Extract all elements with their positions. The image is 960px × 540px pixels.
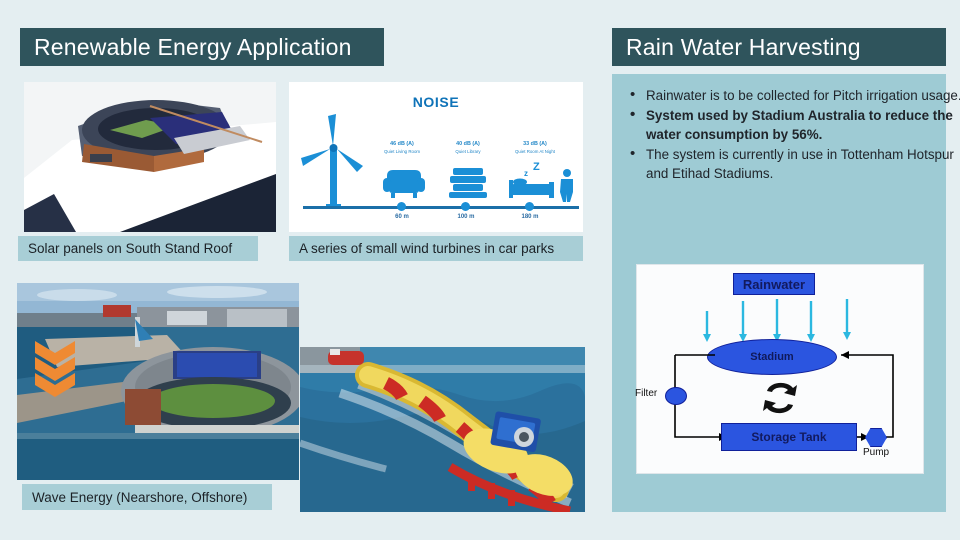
stadium-render-graphic <box>24 82 276 232</box>
caption-solar: Solar panels on South Stand Roof <box>18 236 258 261</box>
page-title-left: Renewable Energy Application <box>20 28 384 66</box>
slide-root: Renewable Energy Application Solar panel… <box>0 0 960 540</box>
noise-distance-2: 100 m <box>441 214 491 220</box>
noise-infographic: NOISE 46 dB (A) Quiet Living Room 40 dB … <box>289 82 583 232</box>
person-icon <box>557 168 577 204</box>
noise-title: NOISE <box>289 94 583 110</box>
noise-item-2: 40 dB (A) Quiet Library <box>437 140 499 155</box>
noise-distance-1: 60 m <box>377 214 427 220</box>
aerial-stadium-image <box>17 283 299 480</box>
noise-dot-1 <box>397 202 406 211</box>
noise-db-3: 33 dB (A) <box>497 140 573 148</box>
bed-icon: Z z <box>507 158 563 202</box>
noise-baseline <box>303 206 579 209</box>
svg-text:Z: Z <box>533 161 540 173</box>
noise-distance-3: 180 m <box>505 214 555 220</box>
bullet-item-1: Rainwater is to be collected for Pitch i… <box>646 86 960 105</box>
filter-label: Filter <box>635 388 657 399</box>
noise-dot-3 <box>525 202 534 211</box>
noise-db-2: 40 dB (A) <box>437 140 499 148</box>
bullet-item-3: The system is currently in use in Totten… <box>646 145 960 183</box>
wave-energy-image <box>300 347 585 512</box>
svg-text:z: z <box>524 169 528 178</box>
books-icon <box>447 164 489 200</box>
noise-item-1: 46 dB (A) Quiet Living Room <box>367 140 437 155</box>
noise-db-1: 46 dB (A) <box>367 140 437 148</box>
aerial-render-graphic <box>17 283 299 480</box>
rain-water-panel: Rainwater is to be collected for Pitch i… <box>612 74 946 512</box>
storage-tank-node: Storage Tank <box>721 423 857 451</box>
wind-turbine-icon <box>297 110 371 210</box>
pump-label: Pump <box>863 447 889 458</box>
filter-node <box>665 387 687 405</box>
noise-label-3: Quiet Room At Night <box>497 148 573 155</box>
page-title-right: Rain Water Harvesting <box>612 28 946 66</box>
noise-dot-2 <box>461 202 470 211</box>
rainwater-harvesting-diagram: Rainwater Stadium <box>636 264 924 474</box>
caption-wave: Wave Energy (Nearshore, Offshore) <box>22 484 272 510</box>
armchair-icon <box>383 164 425 200</box>
noise-item-3: 33 dB (A) Quiet Room At Night <box>497 140 573 155</box>
solar-panels-image <box>24 82 276 232</box>
wave-converter-graphic <box>300 347 585 512</box>
noise-label-2: Quiet Library <box>437 148 499 155</box>
bullet-item-2: System used by Stadium Australia to redu… <box>646 106 960 144</box>
caption-wind: A series of small wind turbines in car p… <box>289 236 583 261</box>
bullet-list: Rainwater is to be collected for Pitch i… <box>620 86 960 184</box>
noise-label-1: Quiet Living Room <box>367 148 437 155</box>
